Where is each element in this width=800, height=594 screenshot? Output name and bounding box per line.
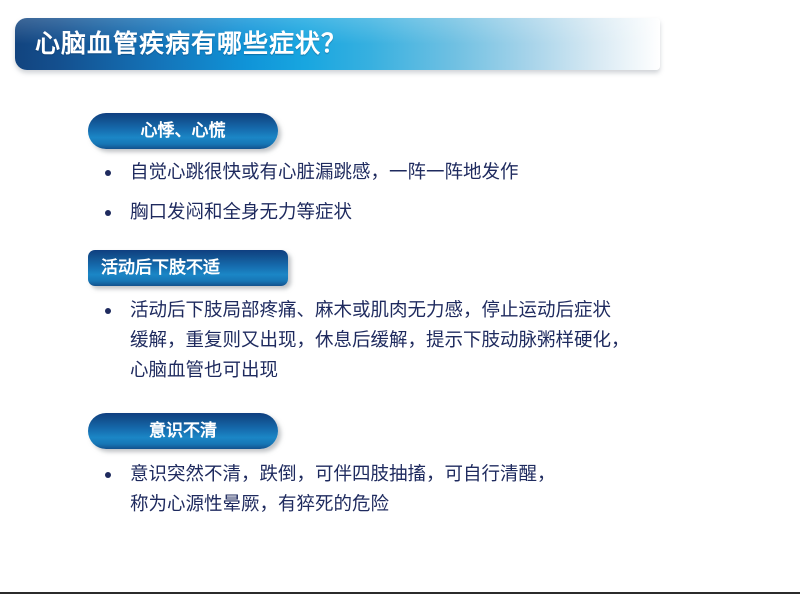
- bullet-dot-icon: [105, 472, 111, 478]
- list-item: 意识突然不清，跌倒，可伴四肢抽搐，可自行清醒， 称为心源性晕厥，有猝死的危险: [92, 460, 712, 520]
- list-item: 胸口发闷和全身无力等症状: [92, 198, 712, 228]
- list-item: 活动后下肢局部疼痛、麻木或肌肉无力感，停止运动后症状 缓解，重复则又出现，休息后…: [92, 296, 752, 386]
- section-heading-unconsciousness: 意识不清: [88, 413, 278, 449]
- section-heading-palpitations: 心悸、心慌: [88, 113, 278, 149]
- bullet-dot-icon: [105, 308, 111, 314]
- slide-title-banner: 心脑血管疾病有哪些症状？: [15, 18, 660, 70]
- section-heading-leg-discomfort: 活动后下肢不适: [88, 250, 288, 286]
- bullet-dot-icon: [105, 170, 111, 176]
- list-item-label: 活动后下肢局部疼痛、麻木或肌肉无力感，停止运动后症状 缓解，重复则又出现，休息后…: [130, 296, 752, 386]
- bullet-dot-icon: [105, 210, 111, 216]
- bullet-list-unconsciousness: 意识突然不清，跌倒，可伴四肢抽搐，可自行清醒， 称为心源性晕厥，有猝死的危险: [92, 460, 712, 520]
- bullet-list-leg-discomfort: 活动后下肢局部疼痛、麻木或肌肉无力感，停止运动后症状 缓解，重复则又出现，休息后…: [92, 296, 752, 386]
- list-item-label: 意识突然不清，跌倒，可伴四肢抽搐，可自行清醒， 称为心源性晕厥，有猝死的危险: [130, 460, 712, 520]
- slide-canvas: 心脑血管疾病有哪些症状？ 心悸、心慌 自觉心跳很快或有心脏漏跳感，一阵一阵地发作…: [0, 0, 800, 594]
- page-title: 心脑血管疾病有哪些症状？: [35, 18, 347, 70]
- list-item: 自觉心跳很快或有心脏漏跳感，一阵一阵地发作: [92, 158, 712, 188]
- list-item-label: 自觉心跳很快或有心脏漏跳感，一阵一阵地发作: [130, 158, 712, 188]
- list-item-label: 胸口发闷和全身无力等症状: [130, 198, 712, 228]
- bullet-list-palpitations: 自觉心跳很快或有心脏漏跳感，一阵一阵地发作 胸口发闷和全身无力等症状: [92, 158, 712, 238]
